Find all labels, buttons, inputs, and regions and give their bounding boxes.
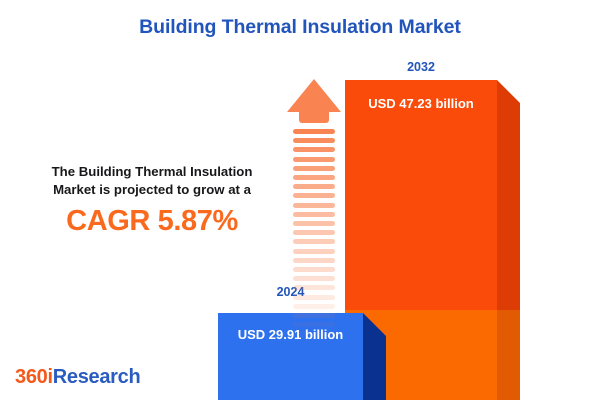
bar-2032-side-lower xyxy=(497,310,520,400)
arrow-stripe xyxy=(293,304,335,309)
arrow-stripe xyxy=(293,276,335,281)
arrow-stripe xyxy=(293,230,335,235)
growth-arrow-icon xyxy=(287,79,341,295)
arrow-stripe xyxy=(293,285,335,290)
arrow-head xyxy=(287,79,341,125)
arrow-head-triangle xyxy=(287,79,341,112)
arrow-stripe xyxy=(293,258,335,263)
bar-value-2032: USD 47.23 billion xyxy=(345,96,497,111)
bar-2024-side xyxy=(363,313,386,400)
bar-2032-side-upper xyxy=(497,80,520,310)
bar-2032-front-upper xyxy=(345,80,497,310)
bar-label-2032: 2032 xyxy=(345,60,497,74)
arrow-stripe xyxy=(293,221,335,226)
cagr-lead-text: The Building Thermal Insulation Market i… xyxy=(22,163,282,199)
cagr-value: CAGR 5.87% xyxy=(22,205,282,238)
cagr-callout: The Building Thermal Insulation Market i… xyxy=(22,163,282,238)
brand-logo[interactable]: 360iResearch xyxy=(15,366,140,389)
arrow-stripe xyxy=(293,193,335,198)
arrow-stripe xyxy=(293,129,335,134)
arrow-stripe xyxy=(293,184,335,189)
bar-value-2024: USD 29.91 billion xyxy=(218,327,363,342)
arrow-stripe xyxy=(293,322,335,327)
arrow-head-neck xyxy=(299,110,329,123)
arrow-stripe xyxy=(293,249,335,254)
arrow-stripe xyxy=(293,147,335,152)
arrow-stripe xyxy=(293,175,335,180)
arrow-stripe xyxy=(293,157,335,162)
arrow-stripe xyxy=(293,267,335,272)
arrow-stripe xyxy=(293,166,335,171)
arrow-stripe xyxy=(293,212,335,217)
arrow-stripe xyxy=(293,331,335,336)
cagr-lead-line1: The Building Thermal Insulation xyxy=(52,164,253,179)
logo-text-research: Research xyxy=(53,366,141,388)
arrow-stripe xyxy=(293,295,335,300)
arrow-stripe xyxy=(293,138,335,143)
arrow-stripe xyxy=(293,239,335,244)
market-infographic: Building Thermal Insulation Market 2032 … xyxy=(0,0,600,400)
logo-text-360i: 360i xyxy=(15,366,53,388)
page-title: Building Thermal Insulation Market xyxy=(0,16,600,39)
cagr-lead-line2: Market is projected to grow at a xyxy=(53,182,251,197)
arrow-stripe xyxy=(293,203,335,208)
arrow-stripe xyxy=(293,313,335,318)
